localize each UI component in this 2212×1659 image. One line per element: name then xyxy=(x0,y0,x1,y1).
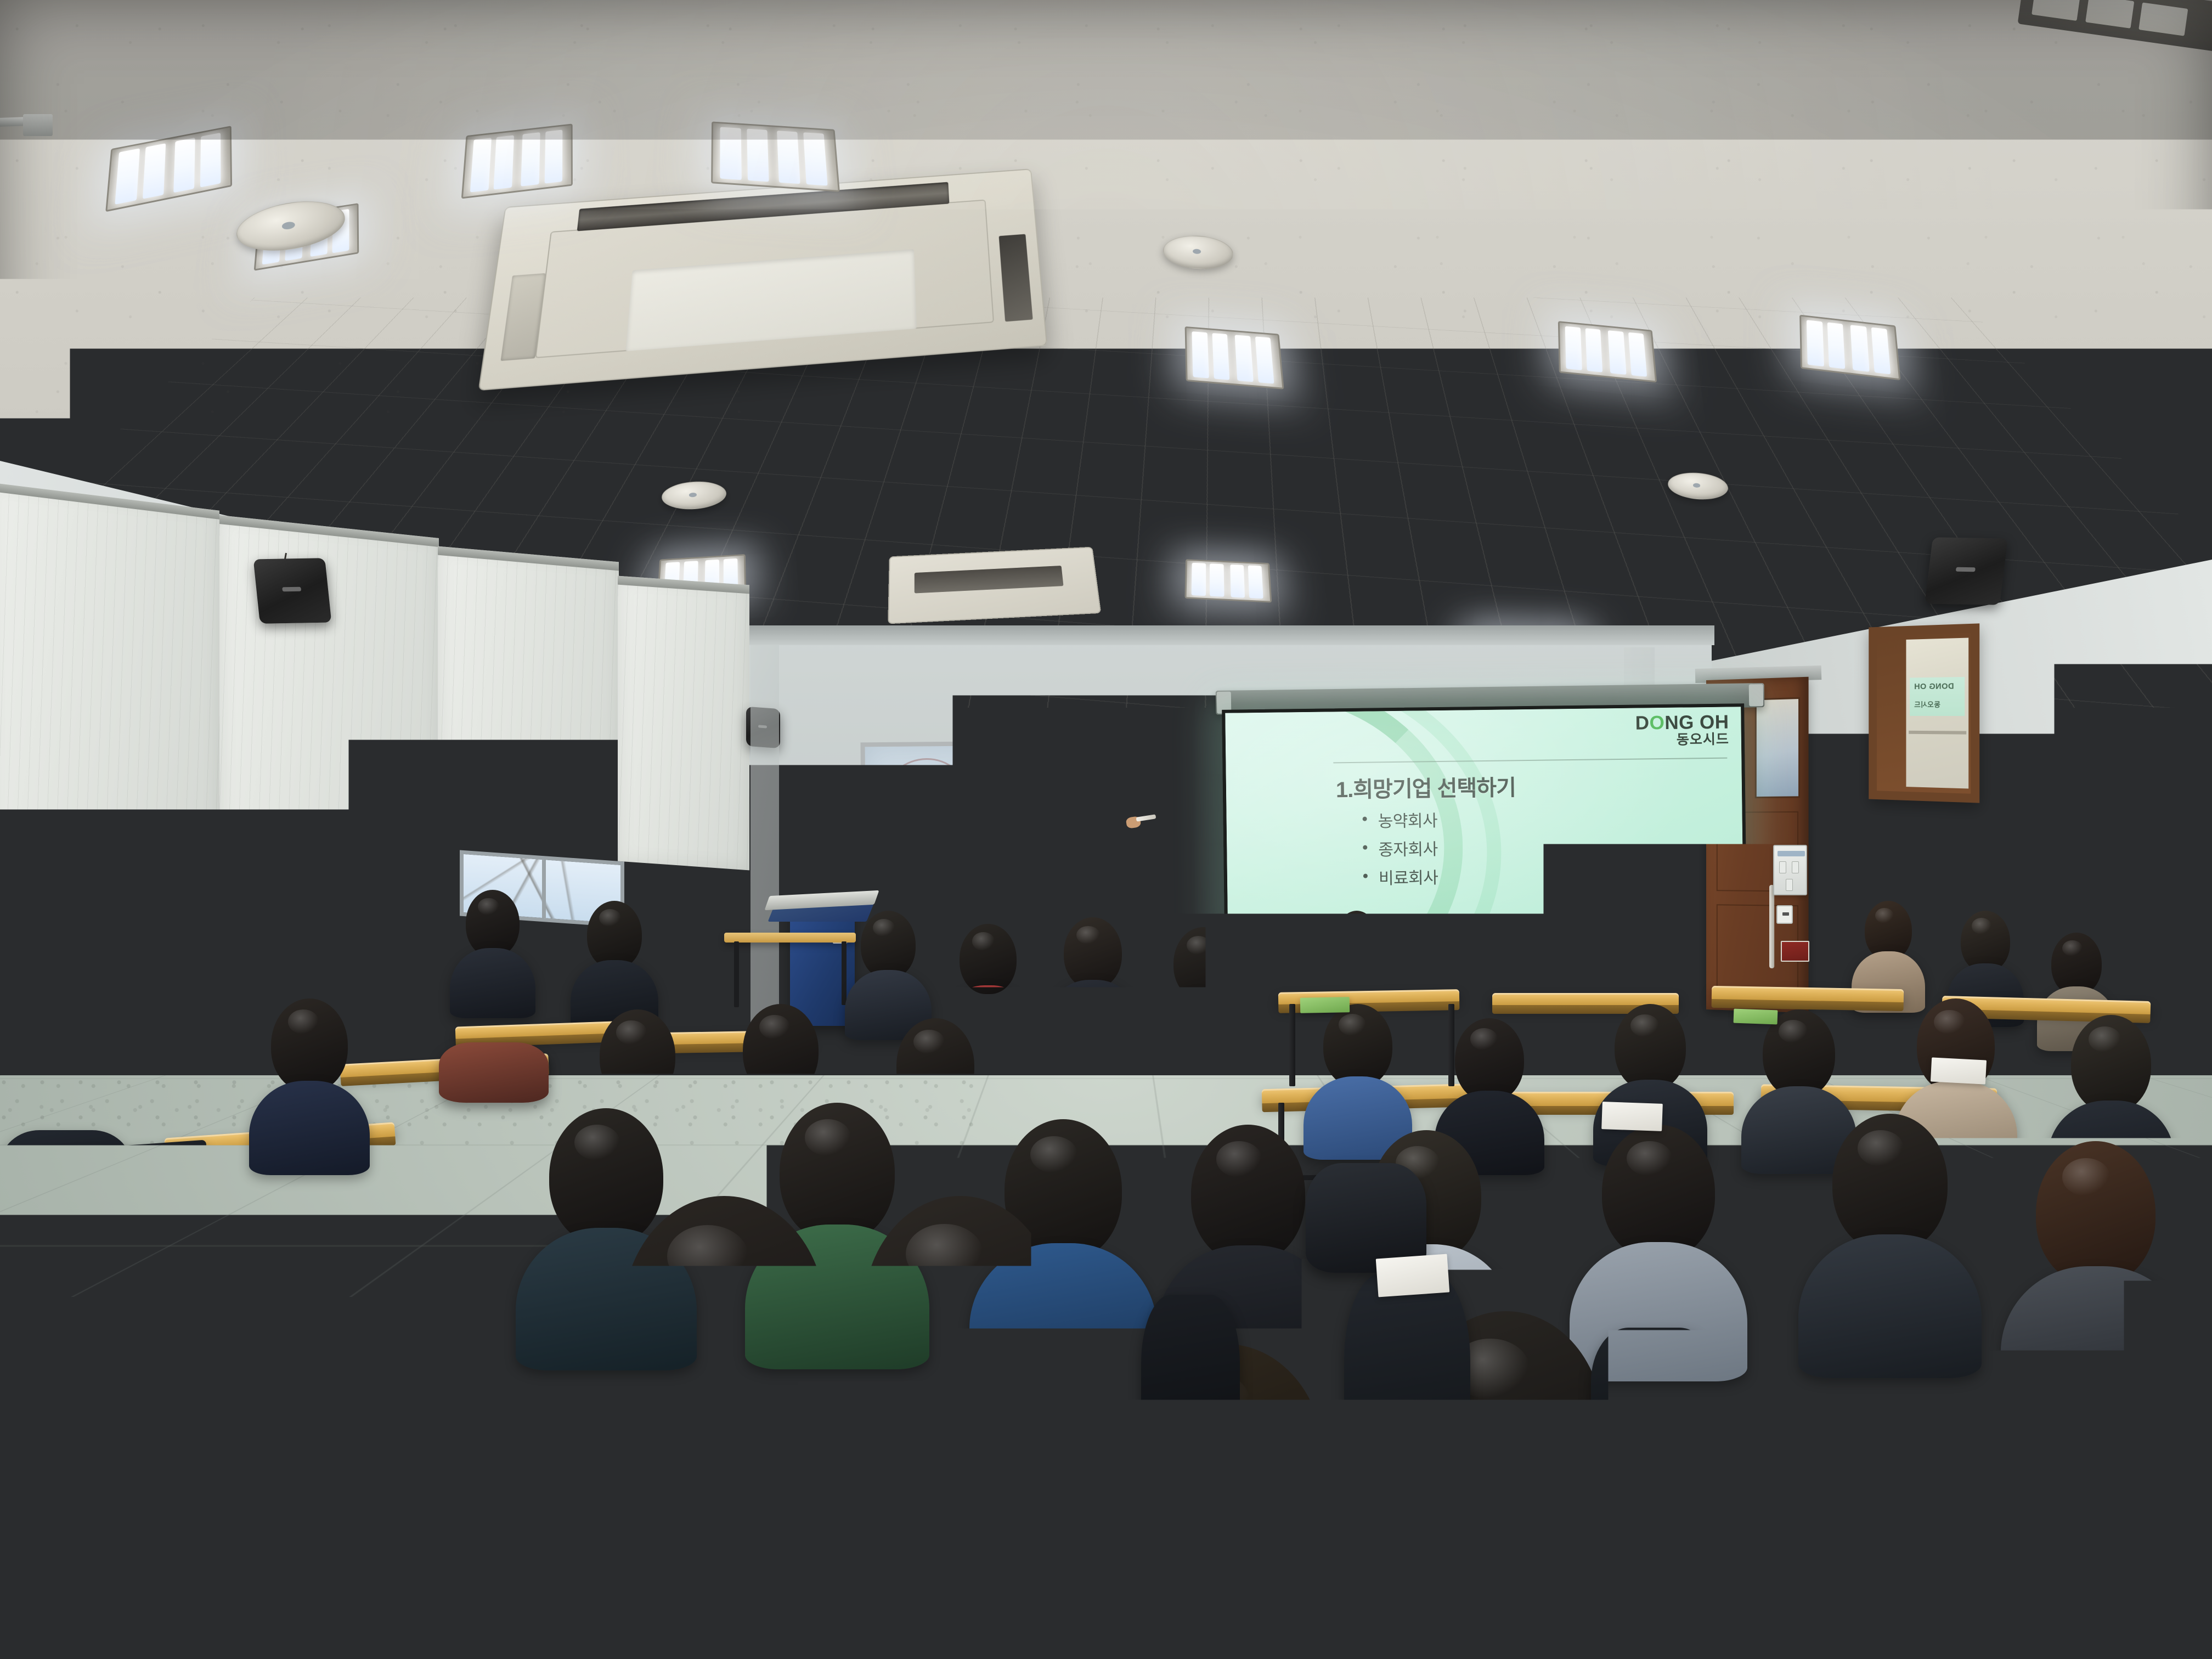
person-head xyxy=(896,1018,974,1113)
audience-person-foreground xyxy=(845,1196,1075,1659)
student-desk xyxy=(1712,986,1904,1003)
bag-on-left-desk xyxy=(165,1262,280,1339)
roller-blind-1[interactable] xyxy=(0,482,219,906)
black-case-on-desk xyxy=(9,1140,210,1220)
backpack-on-desk xyxy=(110,1437,400,1602)
slide-bullet-list-1: 농약회사 종자회사 비료회사 xyxy=(1361,804,1726,889)
audience-person xyxy=(1612,913,1664,1001)
audience-person xyxy=(582,901,647,1011)
audience-person xyxy=(461,890,524,1000)
person-head xyxy=(587,901,642,969)
presenter-torso xyxy=(997,806,1064,916)
person-body xyxy=(1067,1546,1385,1659)
slide-footer-logo: KYUNGNONG xyxy=(1238,943,1318,955)
front-teacher-desk xyxy=(724,933,856,943)
person-head xyxy=(271,998,348,1092)
person-head xyxy=(864,1196,1057,1427)
backpack-on-floor-right xyxy=(1591,1328,1717,1470)
notebook-mid-right xyxy=(1601,1102,1663,1131)
person-body xyxy=(249,1081,370,1175)
front-desk-leg-left xyxy=(734,941,739,1007)
light-switch-3[interactable] xyxy=(1786,879,1793,891)
person-body xyxy=(1347,1514,1665,1659)
light-switch-1[interactable] xyxy=(1779,861,1786,873)
roller-blind-3[interactable] xyxy=(438,546,619,886)
notebook-left-desk xyxy=(932,1523,1032,1565)
kyungnong-ring-icon xyxy=(1238,945,1246,953)
person-body xyxy=(1156,991,1250,1065)
person-head xyxy=(1191,1125,1305,1263)
presentation-slide: DONG OH 동오시드 1.희망기업 선택하기 농약회사 종자회사 비료회사 … xyxy=(1225,707,1743,962)
person-head xyxy=(600,1009,675,1102)
audience-person xyxy=(1333,911,1380,993)
wall-speaker-left xyxy=(253,558,332,624)
slide-bullet-1-2: 종자회사 xyxy=(1362,832,1726,861)
bag-front-left xyxy=(439,1042,549,1103)
whiteboard-handwriting: 응시 응약 농약 xyxy=(888,760,983,835)
roller-blind-4[interactable] xyxy=(618,576,749,871)
person-head xyxy=(1615,1004,1686,1091)
person-head xyxy=(1810,1278,2014,1520)
handout-paper-sleeve xyxy=(1724,1513,1980,1659)
wall-pilaster-left xyxy=(751,645,779,1029)
paper-clip-left xyxy=(1805,1539,1820,1547)
mirror-reflected-brand-kr: 동오시드 xyxy=(1914,699,1940,709)
light-switch-2[interactable] xyxy=(1792,861,1799,873)
person-body xyxy=(450,948,535,1018)
wall-speaker-right xyxy=(1925,537,2008,605)
interior-window-mirror: DONG OH 동오시드 xyxy=(1869,623,1979,803)
roller-blind-2[interactable] xyxy=(219,515,439,900)
audience-person xyxy=(1169,927,1238,1042)
slide-footer-logo-text: KYUNGNONG xyxy=(1249,943,1318,955)
presenter-face xyxy=(1031,781,1049,807)
person-head xyxy=(1173,927,1233,1000)
person-head xyxy=(1832,1114,1948,1252)
projection-screen: DONG OH 동오시드 1.희망기업 선택하기 농약회사 종자회사 비료회사 … xyxy=(1222,703,1747,966)
door-closer-body xyxy=(23,114,53,136)
notebook-far-right xyxy=(1931,1057,1987,1084)
audience-person xyxy=(296,904,357,1008)
wall-soffit-beam xyxy=(743,625,1714,645)
slide-bullet-1-3: 비료회사 xyxy=(1362,861,1726,889)
person-head xyxy=(743,1004,819,1096)
door-window-pane xyxy=(1755,697,1801,798)
notebook-on-desk xyxy=(1376,1254,1450,1297)
green-book-1 xyxy=(1300,997,1350,1013)
desk-leg xyxy=(99,1328,105,1514)
person-head xyxy=(1051,1026,1131,1124)
audience-person xyxy=(1059,917,1127,1032)
audience-person xyxy=(263,998,356,1147)
mirror-reflection-of-slide: DONG OH 동오시드 xyxy=(1910,677,1965,716)
green-book-2 xyxy=(1734,1009,1778,1025)
slide-bullet-1-1: 농약회사 xyxy=(1361,804,1725,832)
lecture-hall-photo: DONG OH 동오시드 응시 응약 농약 DONG OH 동오시드 xyxy=(0,0,2212,1659)
person-head xyxy=(1602,1125,1715,1260)
person-head xyxy=(861,911,916,979)
audience-person xyxy=(1956,911,2015,1009)
slide-brand-name-kr: 동오시드 xyxy=(1635,732,1729,748)
mirror-reflected-brand-text: DONG OH xyxy=(1914,682,1954,692)
audience-person xyxy=(1860,901,1917,1000)
presenter-glasses-icon xyxy=(1035,787,1051,793)
mirror-glass-pane: DONG OH 동오시드 xyxy=(1906,637,1968,789)
audience-person xyxy=(1317,1004,1399,1136)
audience-person xyxy=(1531,917,1581,1005)
light-switch-panel[interactable] xyxy=(1773,845,1807,895)
backpack-on-floor-center xyxy=(1344,1273,1470,1503)
person-head xyxy=(2035,1180,2212,1415)
slide-heading-1: 1.희망기업 선택하기 xyxy=(1336,768,1726,804)
slide-brand-o-glyph: O xyxy=(1649,712,1664,733)
paper-clip-right xyxy=(1865,1542,1880,1550)
audience-person xyxy=(955,924,1022,1034)
person-head xyxy=(2071,1015,2151,1113)
person-head xyxy=(301,904,352,968)
backpack-logo-patch xyxy=(290,1487,324,1515)
person-head xyxy=(1455,1018,1524,1102)
backpack-on-floor-left xyxy=(1141,1295,1240,1476)
person-head xyxy=(960,924,1017,994)
person-head xyxy=(623,1196,826,1437)
front-desk-leg-right xyxy=(842,941,847,1005)
person-head xyxy=(1323,1004,1392,1087)
person-head xyxy=(1064,917,1122,989)
desk-leg xyxy=(1289,1004,1295,1086)
person-head xyxy=(466,890,520,957)
slide-brand-name-en: DONG OH xyxy=(1635,713,1729,733)
audience-person xyxy=(856,911,921,1020)
person-head xyxy=(2051,933,2102,995)
slide-brand-logo: DONG OH 동오시드 xyxy=(1635,713,1729,748)
